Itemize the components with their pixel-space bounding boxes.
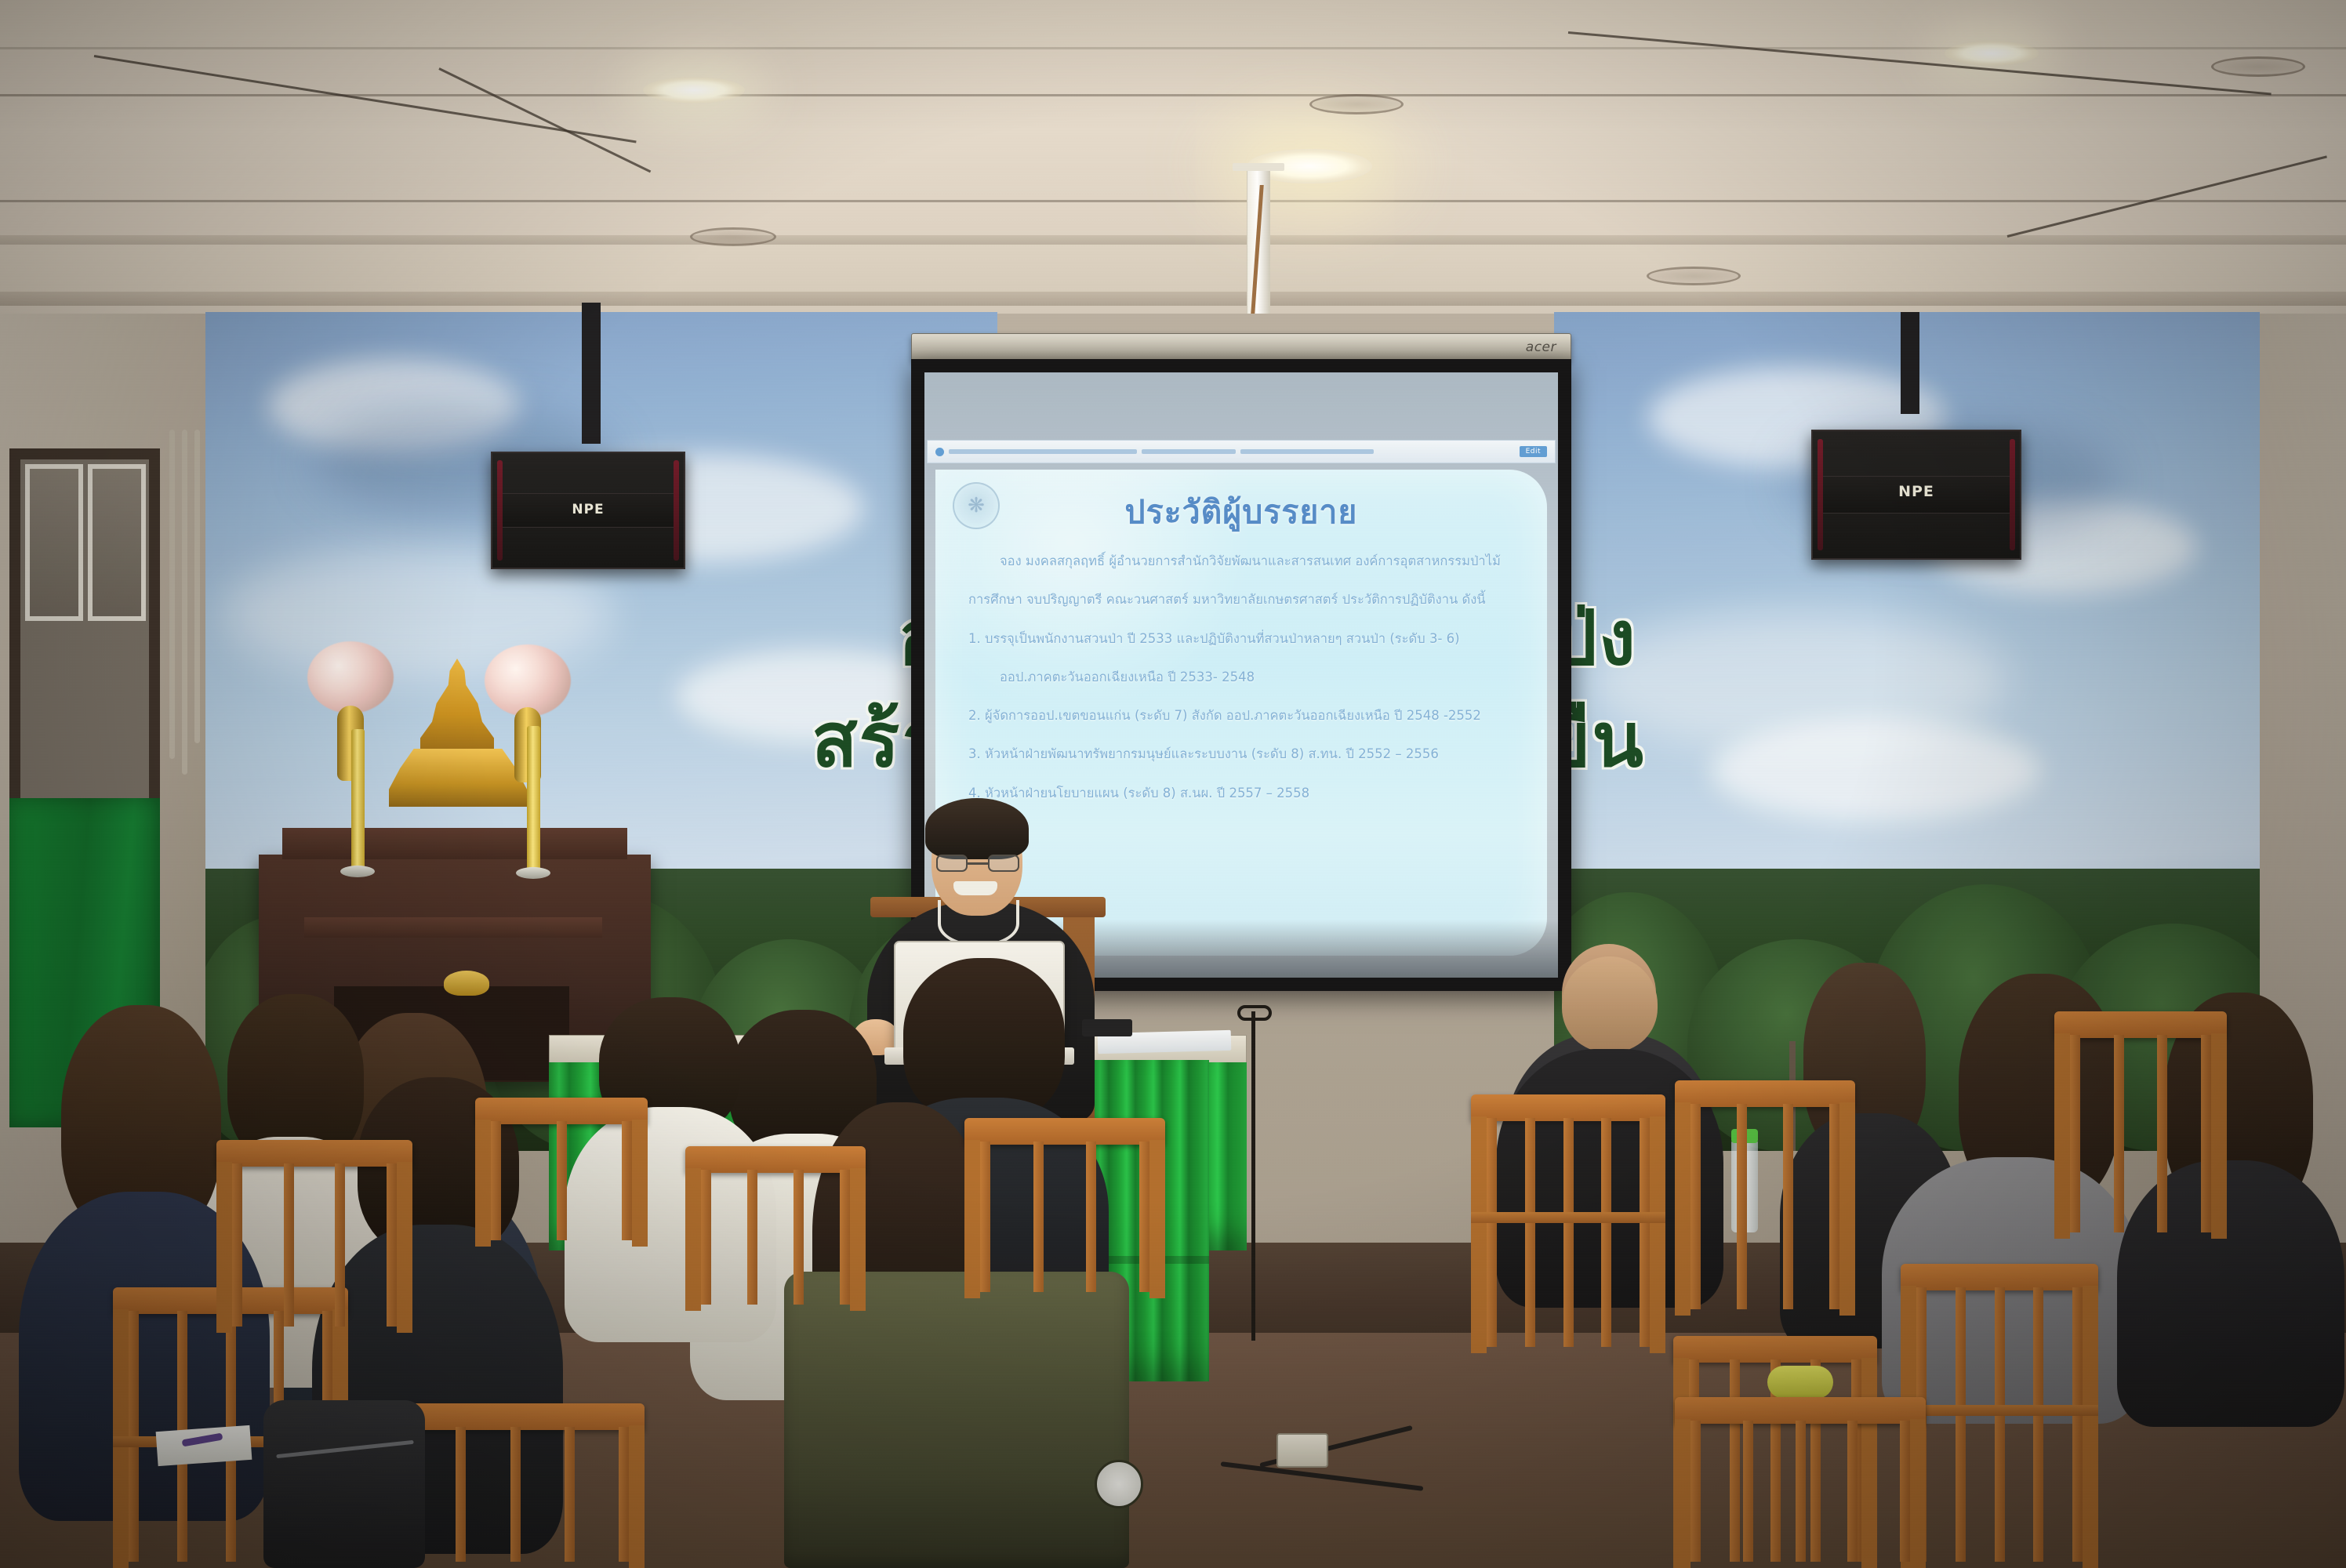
ceiling-vent bbox=[2211, 56, 2305, 77]
buddha-pedestal bbox=[389, 749, 527, 807]
chair[interactable] bbox=[1471, 1094, 1665, 1353]
chair[interactable] bbox=[685, 1146, 866, 1311]
projected-image: Edit ❋ ประวัติผู้บรรยาย จอง มงคลสกุลฤทธิ… bbox=[924, 372, 1558, 978]
attendee-head bbox=[1562, 956, 1658, 1052]
jacket-patch-icon bbox=[1095, 1460, 1143, 1508]
slide-line: 1. บรรจุเป็นพนักงานสวนป่า ปี 2533 และปฏิ… bbox=[968, 630, 1525, 648]
shrine-flowers-left bbox=[307, 641, 394, 713]
chair[interactable] bbox=[964, 1118, 1165, 1298]
toolbar-edit-chip[interactable]: Edit bbox=[1520, 446, 1547, 457]
shrine-flowers-right bbox=[485, 644, 571, 717]
right-pa-speaker: NPE bbox=[1811, 430, 2021, 560]
wall-conduit bbox=[169, 430, 175, 759]
presenter-hair bbox=[925, 798, 1029, 859]
projector-pole-plate bbox=[1233, 163, 1284, 171]
wall-outlet[interactable] bbox=[1276, 1433, 1328, 1468]
backpack bbox=[263, 1400, 425, 1568]
yellow-object bbox=[1767, 1366, 1833, 1399]
ceiling-vent bbox=[1647, 267, 1741, 285]
wall-conduit bbox=[182, 430, 187, 775]
seminar-room-photo: อง สร้าง ป่ง ยืน NPE bbox=[0, 0, 2346, 1568]
screen-brand-label: acer bbox=[1526, 339, 1556, 355]
left-speaker-bracket bbox=[582, 303, 601, 444]
chair[interactable] bbox=[1675, 1397, 1926, 1568]
pa-brand-label: NPE bbox=[1813, 483, 2020, 500]
candle-holder-right bbox=[516, 867, 550, 879]
mic-head bbox=[1237, 1005, 1272, 1021]
ceiling-vent bbox=[1309, 94, 1404, 114]
slide: ❋ ประวัติผู้บรรยาย จอง มงคลสกุลฤทธิ์ ผู้… bbox=[935, 470, 1547, 956]
incense-bowl bbox=[444, 971, 489, 996]
ceiling-downlight bbox=[643, 77, 745, 103]
shrine-candle-right bbox=[527, 726, 540, 872]
slide-line: ออป.ภาคตะวันออกเฉียงเหนือ ปี 2533- 2548 bbox=[968, 669, 1525, 686]
desk-device bbox=[1082, 1019, 1132, 1036]
left-pa-speaker: NPE bbox=[491, 452, 685, 569]
slide-title: ประวัติผู้บรรยาย bbox=[935, 487, 1547, 538]
ceiling-vent bbox=[690, 227, 776, 246]
candle-holder-left bbox=[340, 866, 375, 877]
chair[interactable] bbox=[1901, 1264, 2098, 1568]
slide-line: 4. หัวหน้าฝ่ายนโยบายแผน (ระดับ 8) ส.นผ. … bbox=[968, 785, 1525, 802]
chair[interactable] bbox=[1675, 1080, 1855, 1316]
pa-brand-label: NPE bbox=[492, 502, 684, 517]
notebook bbox=[156, 1425, 252, 1466]
slide-line: จอง มงคลสกุลฤทธิ์ ผู้อำนวยการสำนักวิจัยพ… bbox=[968, 553, 1525, 570]
chair[interactable] bbox=[216, 1140, 412, 1333]
screen-roller-case: acer bbox=[911, 333, 1571, 361]
mic-stand bbox=[1251, 1011, 1255, 1341]
slide-line: การศึกษา จบปริญญาตรี คณะวนศาสตร์ มหาวิทย… bbox=[968, 591, 1525, 608]
chair[interactable] bbox=[475, 1098, 648, 1247]
toolbar-status-dot bbox=[935, 448, 944, 456]
slide-line: 3. หัวหน้าฝ่ายพัฒนาทรัพยากรมนุษย์และระบบ… bbox=[968, 746, 1525, 763]
ceiling-downlight bbox=[1945, 41, 2039, 66]
right-speaker-bracket bbox=[1901, 312, 1919, 414]
jacket-over-chair bbox=[784, 1272, 1129, 1568]
presentation-toolbar[interactable]: Edit bbox=[927, 440, 1556, 463]
slide-line: 2. ผู้จัดการออป.เขตขอนแก่น (ระดับ 7) สัง… bbox=[968, 707, 1525, 724]
presenter-mouth bbox=[953, 881, 997, 895]
wall-conduit bbox=[194, 430, 200, 743]
presenter-glasses bbox=[936, 855, 1019, 872]
slide-body: จอง มงคลสกุลฤทธิ์ ผู้อำนวยการสำนักวิจัยพ… bbox=[968, 553, 1525, 823]
shrine-candle-left bbox=[351, 729, 365, 870]
chair[interactable] bbox=[2054, 1011, 2227, 1239]
